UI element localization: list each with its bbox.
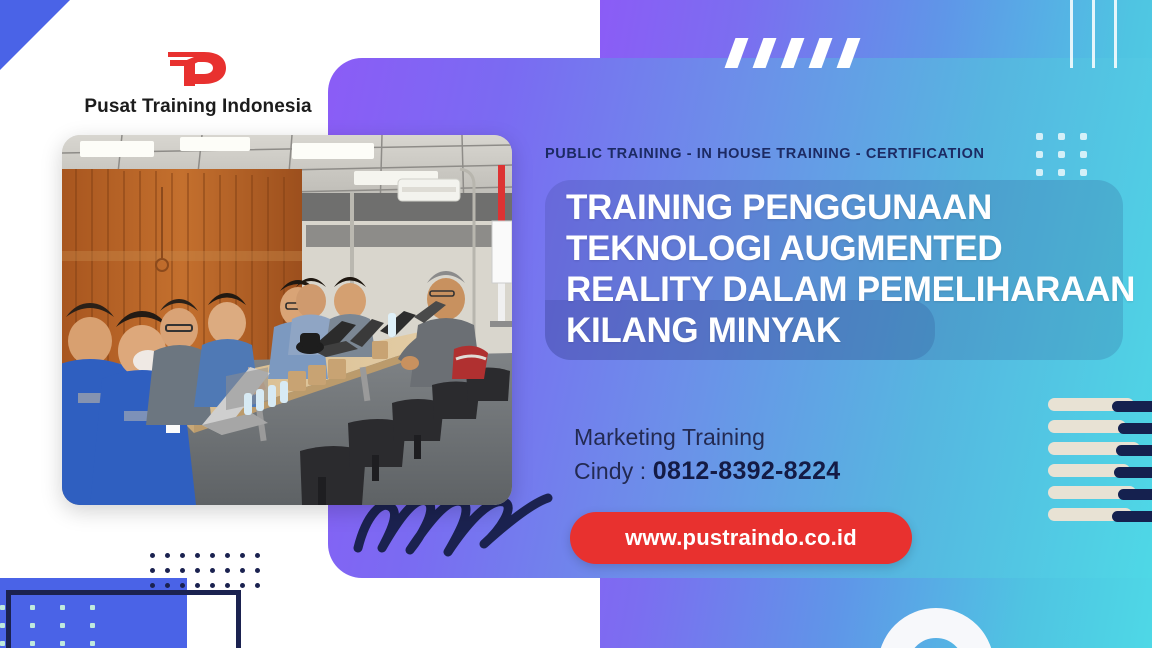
contact-name-label: Cindy : bbox=[574, 458, 646, 484]
training-classroom-photo bbox=[62, 135, 512, 505]
contact-phone-line: Cindy : 0812-8392-8224 bbox=[574, 457, 1074, 486]
contact-phone-number[interactable]: 0812-8392-8224 bbox=[653, 457, 841, 485]
p-swoosh-logo-icon bbox=[78, 38, 318, 90]
vertical-lines-decor bbox=[1070, 0, 1140, 68]
corner-triangle-decor bbox=[0, 0, 70, 70]
dot-grid-bottom-decor bbox=[150, 553, 270, 598]
brand-name-label: Pusat Training Indonesia bbox=[78, 96, 318, 118]
contact-block: Marketing Training Cindy : 0812-8392-822… bbox=[574, 424, 1074, 486]
page-title: TRAINING PENGGUNAAN TEKNOLOGI AUGMENTED … bbox=[566, 188, 1146, 352]
diagonal-stripes-decor bbox=[730, 38, 880, 68]
contact-role-label: Marketing Training bbox=[574, 424, 1074, 451]
website-cta-button[interactable]: www.pustraindo.co.id bbox=[570, 512, 912, 564]
outline-square-decor bbox=[6, 590, 241, 648]
eyebrow-text: PUBLIC TRAINING - IN HOUSE TRAINING - CE… bbox=[545, 146, 1105, 162]
banner-canvas: Pusat Training Indonesia bbox=[0, 0, 1152, 648]
brand-logo-block: Pusat Training Indonesia bbox=[78, 38, 318, 118]
